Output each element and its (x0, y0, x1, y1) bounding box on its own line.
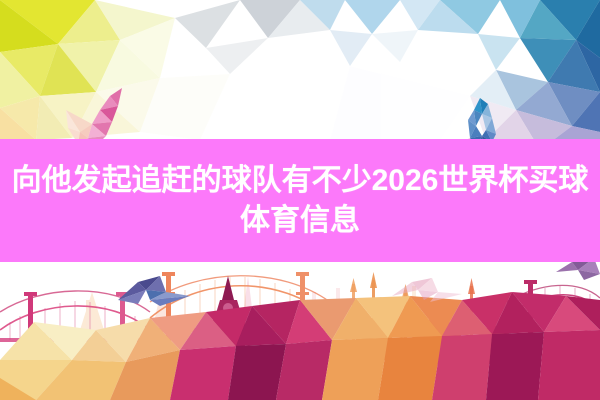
title-banner: 向他发起追赶的球队有不少2026世界杯买球体育信息 (0, 139, 600, 262)
seagull-bottom-left-icon (118, 276, 190, 306)
poster-image: 向他发起追赶的球队有不少2026世界杯买球体育信息 (0, 0, 600, 400)
banner-title-text: 向他发起追赶的球队有不少2026世界杯买球体育信息 (6, 161, 594, 240)
